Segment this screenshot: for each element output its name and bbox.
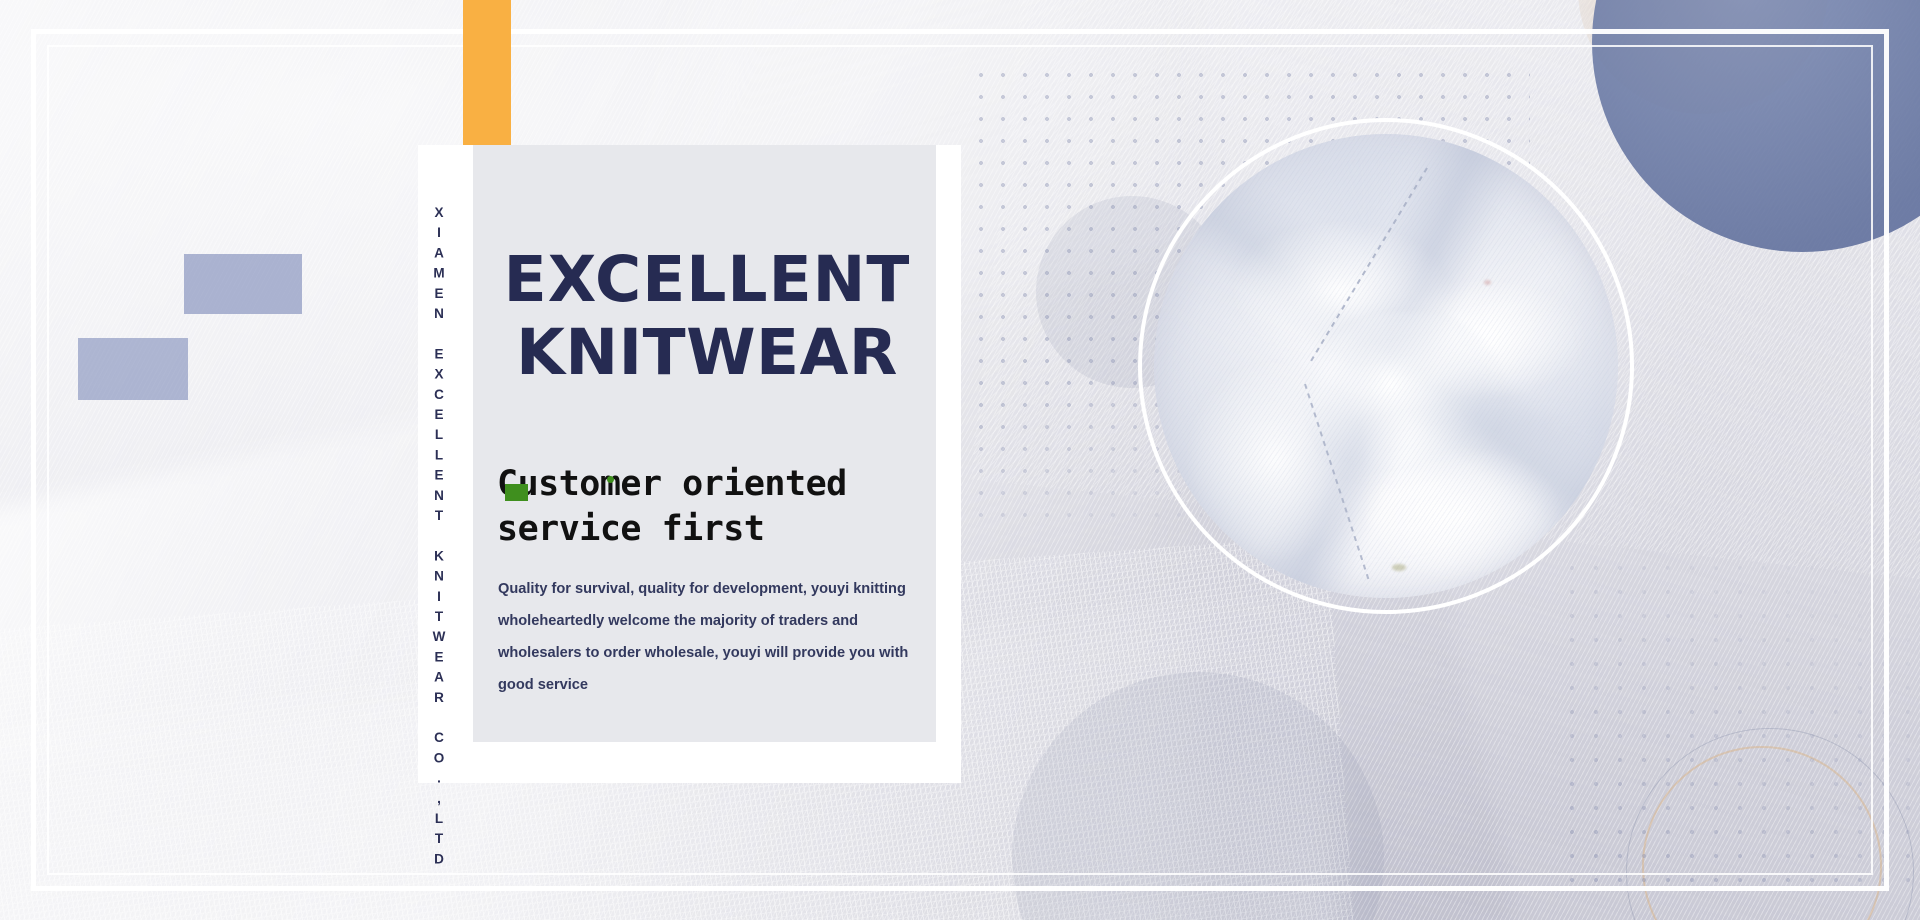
headline-block: EXCELLENT KNITWEAR <box>497 243 917 389</box>
body-copy-block: Quality for survival, quality for develo… <box>498 573 922 701</box>
halftone-dots-pattern <box>1560 556 1920 886</box>
company-name-vertical: XIAMEN EXCELLENT KNITWEAR CO.,LTD <box>417 205 461 695</box>
subheadline-block: Customer oriented service first <box>497 462 897 552</box>
subheadline-line-1: Customer oriented <box>497 462 897 507</box>
green-accent-dot <box>607 476 614 483</box>
headline-line-2: KNITWEAR <box>497 316 917 389</box>
subheadline-line-2: service first <box>497 507 897 552</box>
green-accent-mark <box>505 484 528 501</box>
banner-stage: XIAMEN EXCELLENT KNITWEAR CO.,LTD EXCELL… <box>0 0 1920 920</box>
headline-line-1: EXCELLENT <box>497 243 917 316</box>
body-copy-text: Quality for survival, quality for develo… <box>498 573 922 701</box>
company-name-vertical-text: XIAMEN EXCELLENT KNITWEAR CO.,LTD <box>432 205 447 872</box>
photo-ring-outline <box>1138 118 1634 614</box>
